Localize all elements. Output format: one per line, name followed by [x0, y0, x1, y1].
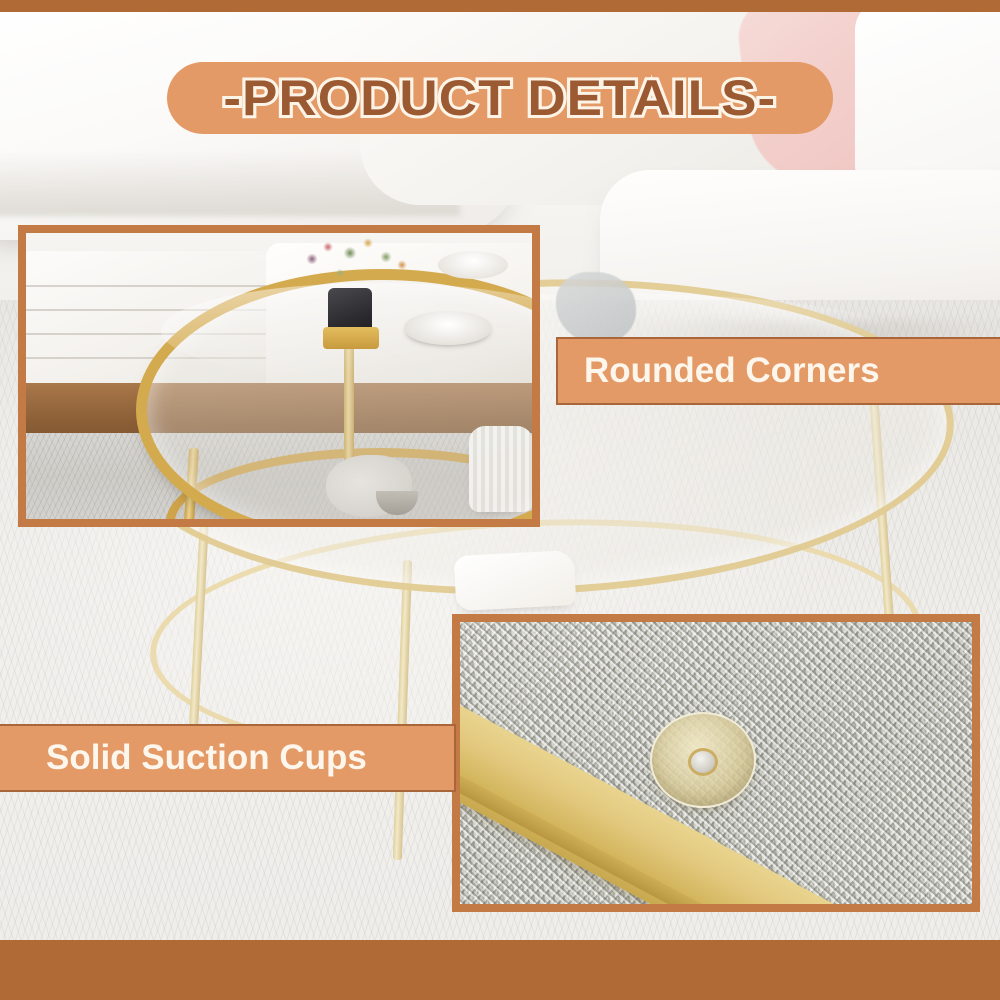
feature-label-rounded-corners: Rounded Corners — [556, 337, 1000, 405]
bottom-accent-band — [0, 940, 1000, 1000]
suction-cup-center-stud — [688, 748, 718, 776]
inset-vase-gold-ring — [323, 327, 379, 349]
feature-label-solid-suction-cups-text: Solid Suction Cups — [46, 738, 367, 778]
page-title-banner: -PRODUCT DETAILS- — [167, 62, 833, 134]
feature-photo-solid-suction-cups — [452, 614, 980, 912]
inset-teacup — [438, 251, 508, 279]
page-title: -PRODUCT DETAILS- — [224, 73, 777, 123]
inset-flower-bouquet — [294, 233, 424, 303]
inset-plate — [404, 311, 492, 345]
feature-photo-rounded-corners — [18, 225, 540, 527]
feature-label-rounded-corners-text: Rounded Corners — [584, 351, 880, 391]
rounded-corners-photo-scene — [26, 233, 532, 519]
table-tissue-box — [454, 550, 577, 611]
product-details-image: -PRODUCT DETAILS- Rounded Corners — [0, 0, 1000, 1000]
feature-label-solid-suction-cups: Solid Suction Cups — [0, 724, 456, 792]
top-accent-band — [0, 0, 1000, 12]
